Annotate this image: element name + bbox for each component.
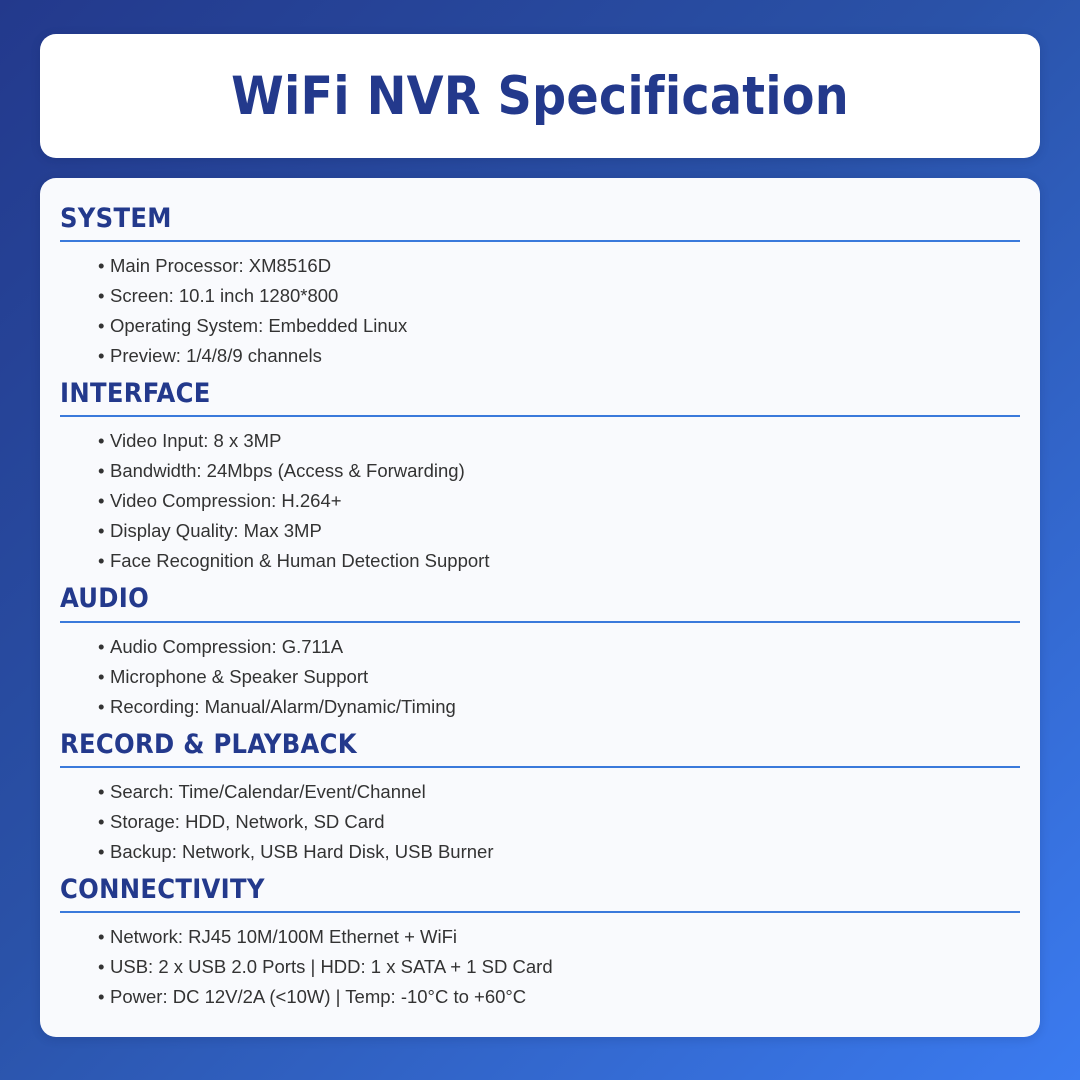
spec-section: RECORD & PLAYBACK•Search: Time/Calendar/… — [60, 730, 1020, 867]
spec-section: CONNECTIVITY•Network: RJ45 10M/100M Ethe… — [60, 875, 1020, 1012]
bullet-icon: • — [98, 486, 110, 516]
spec-list: •Video Input: 8 x 3MP•Bandwidth: 24Mbps … — [60, 426, 1020, 576]
spec-list: •Main Processor: XM8516D•Screen: 10.1 in… — [60, 251, 1020, 371]
section-title: AUDIO — [60, 584, 1020, 614]
section-title: CONNECTIVITY — [60, 875, 1020, 905]
section-divider — [60, 240, 1020, 242]
title-card: WiFi NVR Specification — [40, 34, 1040, 158]
bullet-icon: • — [98, 516, 110, 546]
spec-sheet-page: WiFi NVR Specification SYSTEM•Main Proce… — [0, 0, 1080, 1080]
list-item: •Operating System: Embedded Linux — [98, 311, 1020, 341]
page-title: WiFi NVR Specification — [231, 70, 849, 123]
spec-item-label: Video Compression: H.264+ — [110, 490, 342, 511]
spec-item-label: USB: 2 x USB 2.0 Ports | HDD: 1 x SATA +… — [110, 956, 553, 977]
spec-item-label: Screen: 10.1 inch 1280*800 — [110, 285, 338, 306]
list-item: •Audio Compression: G.711A — [98, 632, 1020, 662]
bullet-icon: • — [98, 692, 110, 722]
specifications-card: SYSTEM•Main Processor: XM8516D•Screen: 1… — [40, 178, 1040, 1037]
bullet-icon: • — [98, 952, 110, 982]
spec-item-label: Search: Time/Calendar/Event/Channel — [110, 781, 426, 802]
spec-list: •Search: Time/Calendar/Event/Channel•Sto… — [60, 777, 1020, 867]
list-item: •Recording: Manual/Alarm/Dynamic/Timing — [98, 692, 1020, 722]
section-divider — [60, 911, 1020, 913]
list-item: •Screen: 10.1 inch 1280*800 — [98, 281, 1020, 311]
list-item: •Face Recognition & Human Detection Supp… — [98, 546, 1020, 576]
spec-item-label: Bandwidth: 24Mbps (Access & Forwarding) — [110, 460, 465, 481]
list-item: •Power: DC 12V/2A (<10W) | Temp: -10°C t… — [98, 982, 1020, 1012]
spec-item-label: Main Processor: XM8516D — [110, 255, 331, 276]
section-divider — [60, 415, 1020, 417]
bullet-icon: • — [98, 281, 110, 311]
section-title: RECORD & PLAYBACK — [60, 730, 1020, 760]
bullet-icon: • — [98, 426, 110, 456]
bullet-icon: • — [98, 837, 110, 867]
list-item: •Microphone & Speaker Support — [98, 662, 1020, 692]
spec-item-label: Power: DC 12V/2A (<10W) | Temp: -10°C to… — [110, 986, 526, 1007]
spec-section: SYSTEM•Main Processor: XM8516D•Screen: 1… — [60, 204, 1020, 371]
spec-item-label: Operating System: Embedded Linux — [110, 315, 407, 336]
spec-item-label: Recording: Manual/Alarm/Dynamic/Timing — [110, 696, 456, 717]
spec-item-label: Backup: Network, USB Hard Disk, USB Burn… — [110, 841, 494, 862]
list-item: •Preview: 1/4/8/9 channels — [98, 341, 1020, 371]
section-divider — [60, 766, 1020, 768]
bullet-icon: • — [98, 632, 110, 662]
list-item: •USB: 2 x USB 2.0 Ports | HDD: 1 x SATA … — [98, 952, 1020, 982]
section-divider — [60, 621, 1020, 623]
list-item: •Display Quality: Max 3MP — [98, 516, 1020, 546]
bullet-icon: • — [98, 662, 110, 692]
bullet-icon: • — [98, 982, 110, 1012]
bullet-icon: • — [98, 311, 110, 341]
spec-list: •Network: RJ45 10M/100M Ethernet + WiFi•… — [60, 922, 1020, 1012]
section-title: SYSTEM — [60, 204, 1020, 234]
list-item: •Search: Time/Calendar/Event/Channel — [98, 777, 1020, 807]
list-item: •Bandwidth: 24Mbps (Access & Forwarding) — [98, 456, 1020, 486]
bullet-icon: • — [98, 341, 110, 371]
spec-item-label: Display Quality: Max 3MP — [110, 520, 322, 541]
list-item: •Video Input: 8 x 3MP — [98, 426, 1020, 456]
specification-sections: SYSTEM•Main Processor: XM8516D•Screen: 1… — [60, 204, 1020, 1012]
spec-list: •Audio Compression: G.711A•Microphone & … — [60, 632, 1020, 722]
spec-item-label: Microphone & Speaker Support — [110, 666, 368, 687]
bullet-icon: • — [98, 922, 110, 952]
bullet-icon: • — [98, 777, 110, 807]
bullet-icon: • — [98, 456, 110, 486]
spec-item-label: Video Input: 8 x 3MP — [110, 430, 281, 451]
bullet-icon: • — [98, 546, 110, 576]
spec-item-label: Audio Compression: G.711A — [110, 636, 343, 657]
section-title: INTERFACE — [60, 379, 1020, 409]
bullet-icon: • — [98, 251, 110, 281]
list-item: •Network: RJ45 10M/100M Ethernet + WiFi — [98, 922, 1020, 952]
spec-section: AUDIO•Audio Compression: G.711A•Micropho… — [60, 584, 1020, 721]
spec-item-label: Network: RJ45 10M/100M Ethernet + WiFi — [110, 926, 457, 947]
list-item: •Backup: Network, USB Hard Disk, USB Bur… — [98, 837, 1020, 867]
spec-item-label: Storage: HDD, Network, SD Card — [110, 811, 385, 832]
list-item: •Video Compression: H.264+ — [98, 486, 1020, 516]
spec-item-label: Preview: 1/4/8/9 channels — [110, 345, 322, 366]
spec-item-label: Face Recognition & Human Detection Suppo… — [110, 550, 489, 571]
list-item: •Storage: HDD, Network, SD Card — [98, 807, 1020, 837]
bullet-icon: • — [98, 807, 110, 837]
spec-section: INTERFACE•Video Input: 8 x 3MP•Bandwidth… — [60, 379, 1020, 576]
list-item: •Main Processor: XM8516D — [98, 251, 1020, 281]
